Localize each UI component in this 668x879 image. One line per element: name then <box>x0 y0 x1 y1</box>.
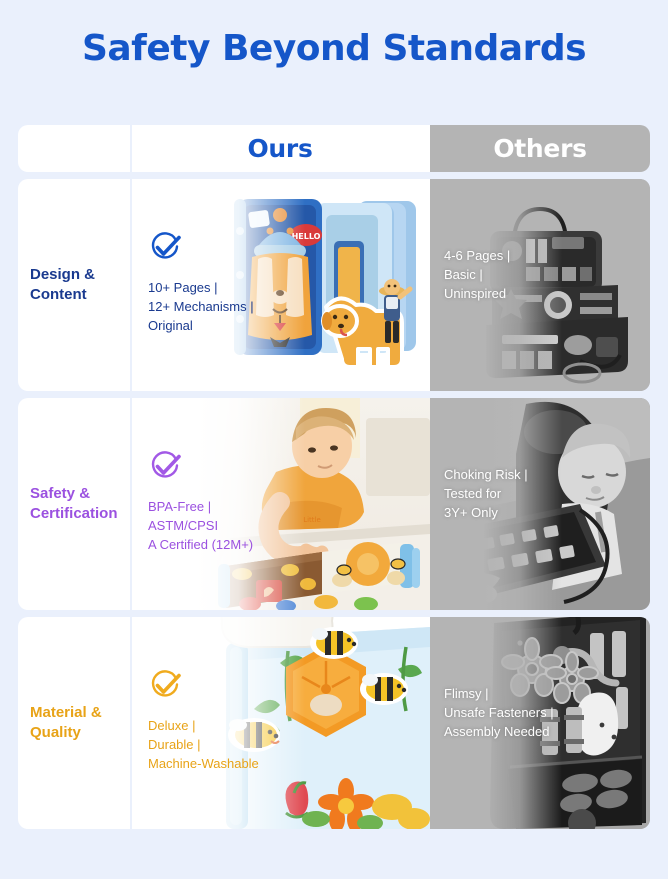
table-header-row: Ours Others <box>18 125 650 172</box>
others-cell-material: Flimsy | Unsafe Fasteners | Assembly Nee… <box>430 617 650 829</box>
ours-claim-design: 10+ Pages | 12+ Mechanisms | Original <box>148 279 280 336</box>
header-cell-others: Others <box>430 125 650 172</box>
page-title: Safety Beyond Standards <box>0 0 668 69</box>
ours-cell-design: HELLO <box>130 179 430 391</box>
ours-content-design: 10+ Pages | 12+ Mechanisms | Original <box>130 179 280 336</box>
others-content-design: 4-6 Pages | Basic | Uninspired <box>430 179 570 304</box>
ours-content-safety: BPA-Free | ASTM/CPSI A Certified (12M+) <box>130 398 280 555</box>
header-cell-ours: Ours <box>130 125 430 172</box>
header-cell-empty <box>18 125 130 172</box>
header-label-others: Others <box>430 125 650 172</box>
comparison-table: Ours Others Design & Content <box>18 125 650 836</box>
others-content-safety: Choking Risk | Tested for 3Y+ Only <box>430 398 570 523</box>
ours-cell-material: Deluxe | Durable | Machine-Washable <box>130 617 430 829</box>
row-label-design: Design & Content <box>30 265 118 306</box>
header-label-ours: Ours <box>130 125 430 172</box>
others-cell-safety: Choking Risk | Tested for 3Y+ Only <box>430 398 650 610</box>
circle-check-icon <box>148 669 280 708</box>
ours-cell-safety: Little <box>130 398 430 610</box>
svg-text:Little: Little <box>303 516 321 524</box>
row-label-cell-safety: Safety & Certification <box>18 398 130 610</box>
others-claim-safety: Choking Risk | Tested for 3Y+ Only <box>444 466 570 523</box>
table-row: Material & Quality <box>18 617 650 829</box>
row-label-cell-design: Design & Content <box>18 179 130 391</box>
row-label-cell-material: Material & Quality <box>18 617 130 829</box>
others-content-material: Flimsy | Unsafe Fasteners | Assembly Nee… <box>430 617 570 742</box>
others-claim-design: 4-6 Pages | Basic | Uninspired <box>444 247 570 304</box>
table-row: Design & Content <box>18 179 650 391</box>
ours-claim-safety: BPA-Free | ASTM/CPSI A Certified (12M+) <box>148 498 280 555</box>
ours-content-material: Deluxe | Durable | Machine-Washable <box>130 617 280 774</box>
others-claim-material: Flimsy | Unsafe Fasteners | Assembly Nee… <box>444 685 570 742</box>
circle-check-icon <box>148 231 280 270</box>
others-cell-design: 4-6 Pages | Basic | Uninspired <box>430 179 650 391</box>
row-label-safety: Safety & Certification <box>30 484 118 525</box>
ours-claim-material: Deluxe | Durable | Machine-Washable <box>148 717 280 774</box>
table-row: Safety & Certification <box>18 398 650 610</box>
circle-check-icon <box>148 450 280 489</box>
row-label-material: Material & Quality <box>30 703 118 744</box>
